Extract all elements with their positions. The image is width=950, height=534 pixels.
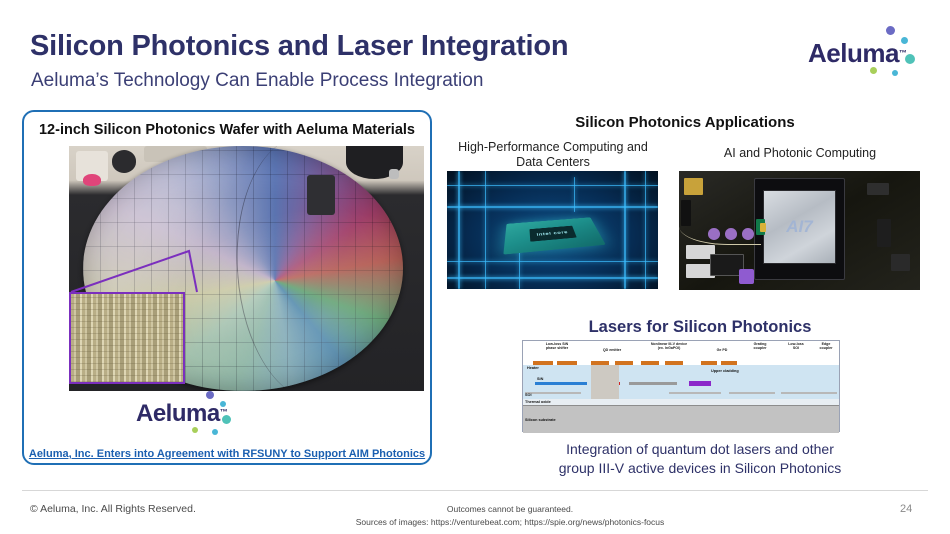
- aeluma-logo-card-wordmark: Aeluma: [136, 400, 220, 427]
- figure-label-ge-pd: Ge PD: [705, 348, 739, 352]
- figure-label-qd-emitter: QD emitter: [589, 348, 635, 352]
- app-caption-ai-line1: AI and Photonic Computing: [724, 146, 876, 160]
- sin-waveguide: [535, 382, 587, 385]
- fiber-solder: [760, 223, 766, 232]
- page-number: 24: [900, 503, 912, 515]
- layer-label-upper-cladding: Upper cladding: [711, 369, 739, 373]
- figure-label-sin-phase-shifter: Low-loss SiN phase shifter: [529, 342, 585, 351]
- logo-dot-purple: [886, 26, 895, 35]
- wafer-card-title: 12-inch Silicon Photonics Wafer with Ael…: [24, 122, 430, 138]
- aeluma-logo-card: Aeluma™: [136, 402, 266, 436]
- iii-v-device-layer: [629, 382, 677, 385]
- lasers-caption-line2: group III-V active devices in Silicon Ph…: [559, 460, 841, 476]
- card-logos-row: Aeluma™ AIM PHOTONICS: [24, 398, 430, 444]
- logo-dot-green: [192, 427, 198, 433]
- silicon-substrate-layer: Silicon substrate: [523, 405, 839, 433]
- qd-mesa: [591, 365, 619, 399]
- app-image-ai: AI7: [679, 171, 920, 290]
- logo-dot-green: [870, 67, 877, 74]
- package-label: AI7: [764, 191, 835, 263]
- layer-label-sin: SiN: [537, 377, 543, 381]
- app-caption-hpc: High-Performance Computing and Data Cent…: [447, 140, 659, 171]
- laser-cross-section-figure: Low-loss SiN phase shifter QD emitter No…: [522, 340, 840, 432]
- optical-fiber: [679, 214, 761, 245]
- layer-label-thermal-oxide: Thermal oxide: [525, 400, 551, 404]
- logo-dot-small-blue: [212, 429, 218, 435]
- layer-label-heater: Heater: [527, 366, 539, 370]
- wafer-photo: [69, 146, 424, 391]
- chip-label: intel core: [503, 217, 605, 254]
- figure-label-low-loss-soi: Low-loss SOI: [779, 342, 813, 351]
- package-die: AI7: [763, 190, 836, 264]
- image-sources-text: Sources of images: https://venturebeat.c…: [356, 517, 665, 527]
- page-title: Silicon Photonics and Laser Integration: [30, 30, 568, 63]
- figure-label-edge-coupler: Edge coupler: [811, 342, 841, 351]
- layer-label-silicon-substrate: Silicon substrate: [525, 418, 556, 422]
- figure-label-nonlinear-device: Nonlinear III-V device (ex. InGaPOI): [635, 342, 703, 351]
- footer-divider: [22, 490, 928, 491]
- app-caption-ai: AI and Photonic Computing: [680, 146, 920, 161]
- lasers-title: Lasers for Silicon Photonics: [500, 318, 900, 337]
- ge-photodiode: [689, 381, 711, 386]
- photonic-package: AI7: [754, 178, 846, 280]
- wafer-card: 12-inch Silicon Photonics Wafer with Ael…: [22, 110, 432, 465]
- aeluma-logo: Aeluma™: [808, 40, 928, 86]
- layer-label-soi: SOI: [525, 393, 532, 397]
- figure-label-grating-coupler: Grating coupler: [741, 342, 779, 351]
- disclaimer-text: Outcomes cannot be guaranteed.: [447, 504, 573, 514]
- logo-dot-small-blue: [892, 70, 898, 76]
- press-release-link[interactable]: Aeluma, Inc. Enters into Agreement with …: [24, 448, 430, 460]
- soi-layer-bar: [669, 392, 721, 394]
- soi-left-bar: [525, 392, 581, 394]
- logo-dot-teal: [905, 54, 915, 64]
- applications-title: Silicon Photonics Applications: [445, 114, 925, 131]
- logo-dot-purple: [206, 391, 214, 399]
- grating-coupler-bar: [729, 392, 775, 394]
- page-subtitle: Aeluma’s Technology Can Enable Process I…: [31, 70, 483, 92]
- copyright-text: © Aeluma, Inc. All Rights Reserved.: [30, 503, 196, 515]
- edge-coupler-bar: [781, 392, 837, 394]
- wafer-zoom-inset: [69, 292, 185, 384]
- logo-dot-teal: [222, 415, 231, 424]
- lasers-caption-line1: Integration of quantum dot lasers and ot…: [566, 441, 834, 457]
- processor-chip: intel core: [503, 217, 605, 254]
- aeluma-logo-wordmark: Aeluma: [808, 38, 899, 68]
- sources-text: Outcomes cannot be guaranteed. Sources o…: [300, 503, 720, 529]
- lasers-caption: Integration of quantum dot lasers and ot…: [495, 440, 905, 478]
- app-image-hpc: intel core: [447, 171, 658, 289]
- logo-dot-cyan: [220, 401, 226, 407]
- app-caption-hpc-line1: High-Performance Computing and: [458, 140, 648, 154]
- app-caption-hpc-line2: Data Centers: [516, 155, 590, 169]
- logo-dot-cyan: [901, 37, 908, 44]
- slide: Silicon Photonics and Laser Integration …: [0, 0, 950, 534]
